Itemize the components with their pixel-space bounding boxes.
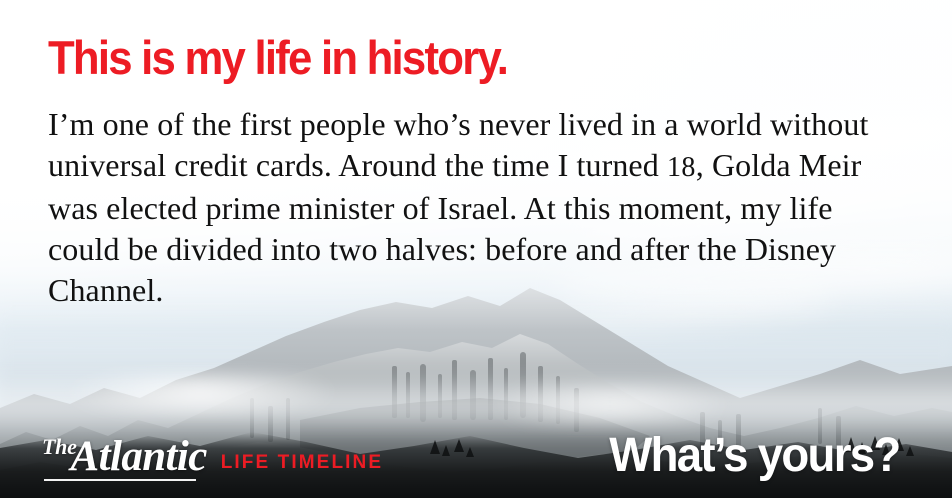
the-atlantic-logo[interactable]: TheAtlantic (42, 435, 207, 478)
page-title: This is my life in history. (48, 34, 507, 81)
story-line-2b: , (696, 147, 704, 183)
brand-lockup[interactable]: TheAtlantic LIFE TIMELINE (42, 435, 383, 478)
logo-underline (44, 479, 196, 481)
content-layer: This is my life in history. I’m one of t… (0, 0, 952, 498)
life-timeline-card: This is my life in history. I’m one of t… (0, 0, 952, 498)
story-line-1: I’m one of the first people who’s never … (48, 106, 762, 142)
call-to-action[interactable]: What’s yours? (610, 432, 900, 480)
logo-the-word: The (42, 434, 77, 459)
series-kicker: LIFE TIMELINE (221, 452, 383, 474)
logo-atlantic-word: Atlantic (71, 433, 207, 480)
story-paragraph: I’m one of the first people who’s never … (48, 104, 910, 311)
story-age-number: 18 (667, 152, 696, 183)
